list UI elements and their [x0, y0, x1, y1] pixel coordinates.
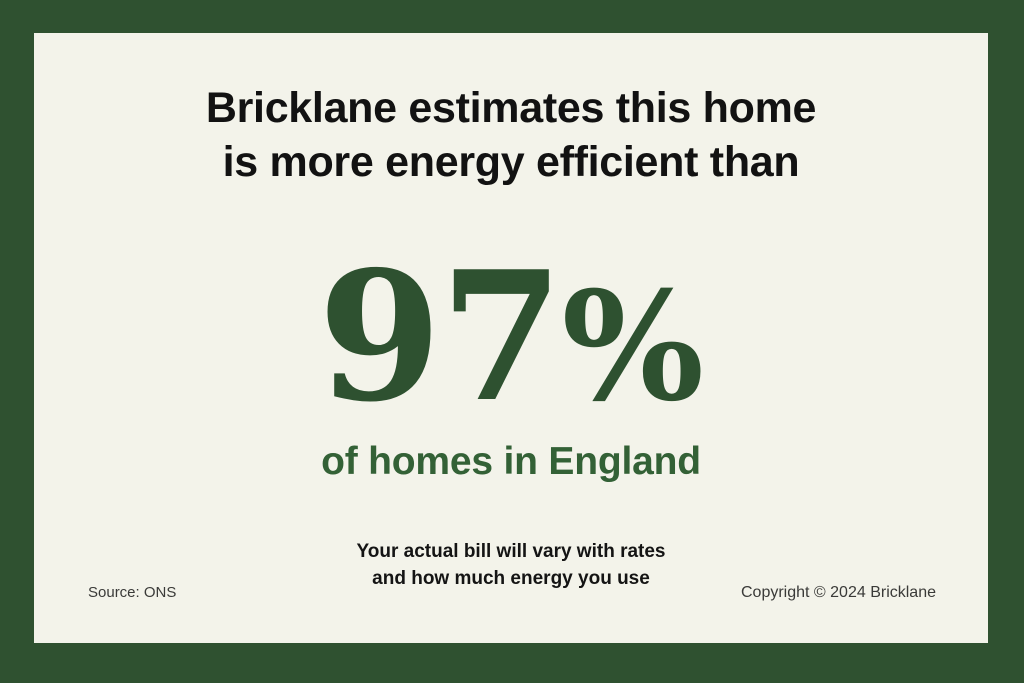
stat-figure: 97%	[34, 241, 988, 443]
stat-caption: of homes in England	[34, 437, 988, 487]
stat-percent-symbol: %	[562, 259, 705, 435]
footer: Source: ONS Copyright © 2024 Bricklane	[34, 579, 988, 609]
headline-line-1: Bricklane estimates this home	[34, 81, 988, 135]
disclaimer-line-1: Your actual bill will vary with rates	[34, 538, 988, 565]
stat-value: 97	[318, 232, 562, 441]
headline: Bricklane estimates this home is more en…	[34, 81, 988, 189]
headline-line-2: is more energy efficient than	[34, 135, 988, 189]
copyright-note: Copyright © 2024 Bricklane	[741, 584, 936, 602]
infographic-frame: Bricklane estimates this home is more en…	[0, 0, 1024, 683]
infographic-card: Bricklane estimates this home is more en…	[34, 33, 988, 643]
source-note: Source: ONS	[88, 584, 176, 601]
